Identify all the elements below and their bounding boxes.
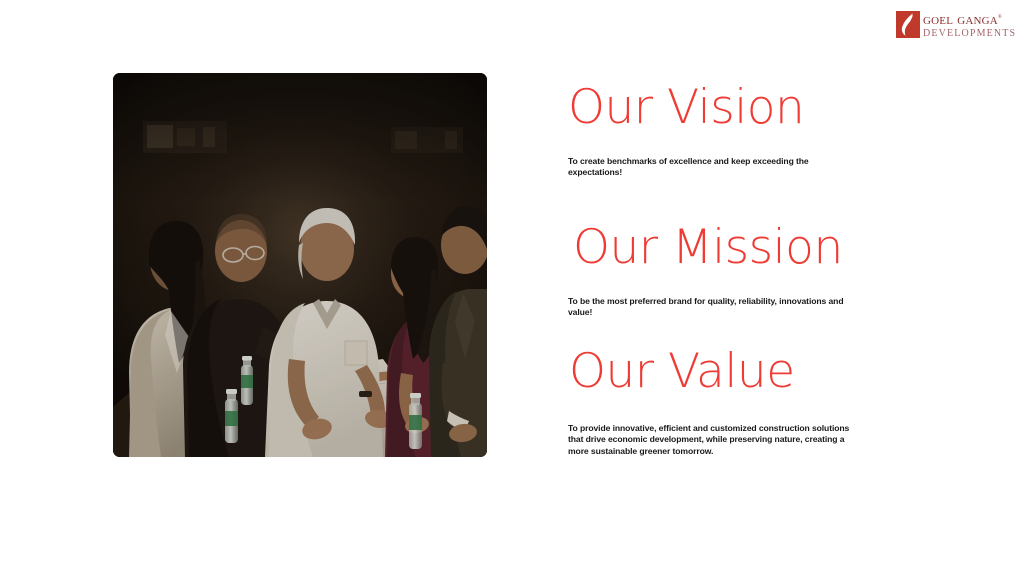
- flame-leaf-icon: [896, 11, 920, 38]
- section-mission: Our Mission To be the most preferred bra…: [568, 222, 988, 319]
- brand-subtitle: DEVELOPMENTS: [923, 28, 1016, 39]
- body-our-value: To provide innovative, efficient and cus…: [568, 423, 856, 457]
- registered-symbol: ®: [998, 15, 1002, 20]
- heading-our-value: Our Value: [569, 346, 988, 398]
- heading-our-vision: Our Vision: [568, 82, 988, 134]
- heading-our-mission: Our Mission: [573, 222, 988, 274]
- body-our-vision: To create benchmarks of excellence and k…: [568, 156, 858, 179]
- brand-name: Goel Ganga®: [923, 10, 1016, 27]
- team-meeting-photo: [113, 73, 487, 457]
- section-value: Our Value To provide innovative, efficie…: [568, 346, 988, 457]
- brand-logo[interactable]: Goel Ganga® DEVELOPMENTS: [896, 8, 1016, 46]
- body-our-mission: To be the most preferred brand for quali…: [568, 296, 858, 319]
- section-vision: Our Vision To create benchmarks of excel…: [568, 82, 988, 179]
- brand-wordmark: Goel Ganga® DEVELOPMENTS: [923, 8, 1016, 39]
